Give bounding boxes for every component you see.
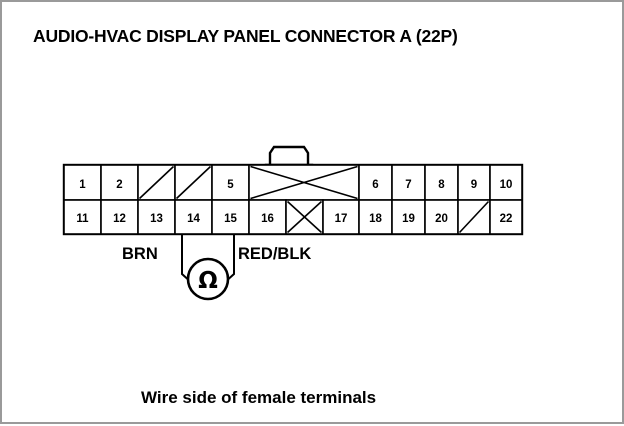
pin-label: 22: [500, 213, 513, 225]
blank-cell-top-3: [138, 165, 175, 200]
pin-cell-10[interactable]: 10: [490, 165, 522, 200]
pin-label: 9: [471, 179, 477, 191]
pin-cell-19[interactable]: 19: [392, 200, 425, 234]
pin-cell-9[interactable]: 9: [458, 165, 490, 200]
pin-cell-14[interactable]: 14: [175, 200, 212, 234]
pin-label: 7: [405, 179, 411, 191]
connector-bottom-row: 11 12 13 14 15: [64, 200, 522, 234]
pin-cell-11[interactable]: 11: [64, 200, 101, 234]
pin-label: 14: [187, 213, 200, 225]
wire-label-brn: BRN: [122, 245, 158, 263]
pin-cell-15[interactable]: 15: [212, 200, 249, 234]
pin-cell-17[interactable]: 17: [323, 200, 359, 234]
figure-caption: Wire side of female terminals: [141, 388, 376, 407]
pin-cell-16[interactable]: 16: [249, 200, 286, 234]
ohmmeter-symbol: Ω: [188, 259, 228, 299]
pin-cell-20[interactable]: 20: [425, 200, 458, 234]
connector-top-row: 1 2 5: [64, 165, 522, 200]
connector-latch-tab: [266, 147, 312, 165]
pin-label: 16: [261, 213, 274, 225]
pin-label: 6: [372, 179, 378, 191]
diagram-page: AUDIO-HVAC DISPLAY PANEL CONNECTOR A (22…: [0, 0, 624, 424]
pin-cell-6[interactable]: 6: [359, 165, 392, 200]
wire-label-red-blk: RED/BLK: [238, 245, 311, 263]
pin-cell-13[interactable]: 13: [138, 200, 175, 234]
pin-label: 8: [438, 179, 445, 191]
connector-diagram: AUDIO-HVAC DISPLAY PANEL CONNECTOR A (22…: [2, 2, 624, 426]
blank-cell-bottom-21: [458, 200, 490, 234]
pin-label: 13: [150, 213, 163, 225]
pin-cell-18[interactable]: 18: [359, 200, 392, 234]
omega-symbol: Ω: [198, 268, 218, 294]
pin-cell-22[interactable]: 22: [490, 200, 522, 234]
pin-cell-12[interactable]: 12: [101, 200, 138, 234]
pin-cell-5[interactable]: 5: [212, 165, 249, 200]
pin-label: 1: [79, 179, 86, 191]
pin-label: 10: [500, 179, 513, 191]
unused-cell-top-wide: [249, 165, 359, 200]
pin-label: 11: [76, 213, 89, 225]
pin-cell-7[interactable]: 7: [392, 165, 425, 200]
pin-label: 17: [335, 213, 348, 225]
pin-label: 19: [402, 213, 415, 225]
pin-label: 18: [369, 213, 382, 225]
page-title: AUDIO-HVAC DISPLAY PANEL CONNECTOR A (22…: [33, 26, 458, 46]
pin-label: 5: [227, 179, 234, 191]
pin-cell-8[interactable]: 8: [425, 165, 458, 200]
pin-label: 2: [116, 179, 122, 191]
pin-cell-2[interactable]: 2: [101, 165, 138, 200]
pin-cell-1[interactable]: 1: [64, 165, 101, 200]
pin-label: 12: [113, 213, 126, 225]
pin-label: 15: [224, 213, 237, 225]
pin-label: 20: [435, 213, 448, 225]
unused-cell-bottom: [286, 200, 323, 234]
blank-cell-top-4: [175, 165, 212, 200]
